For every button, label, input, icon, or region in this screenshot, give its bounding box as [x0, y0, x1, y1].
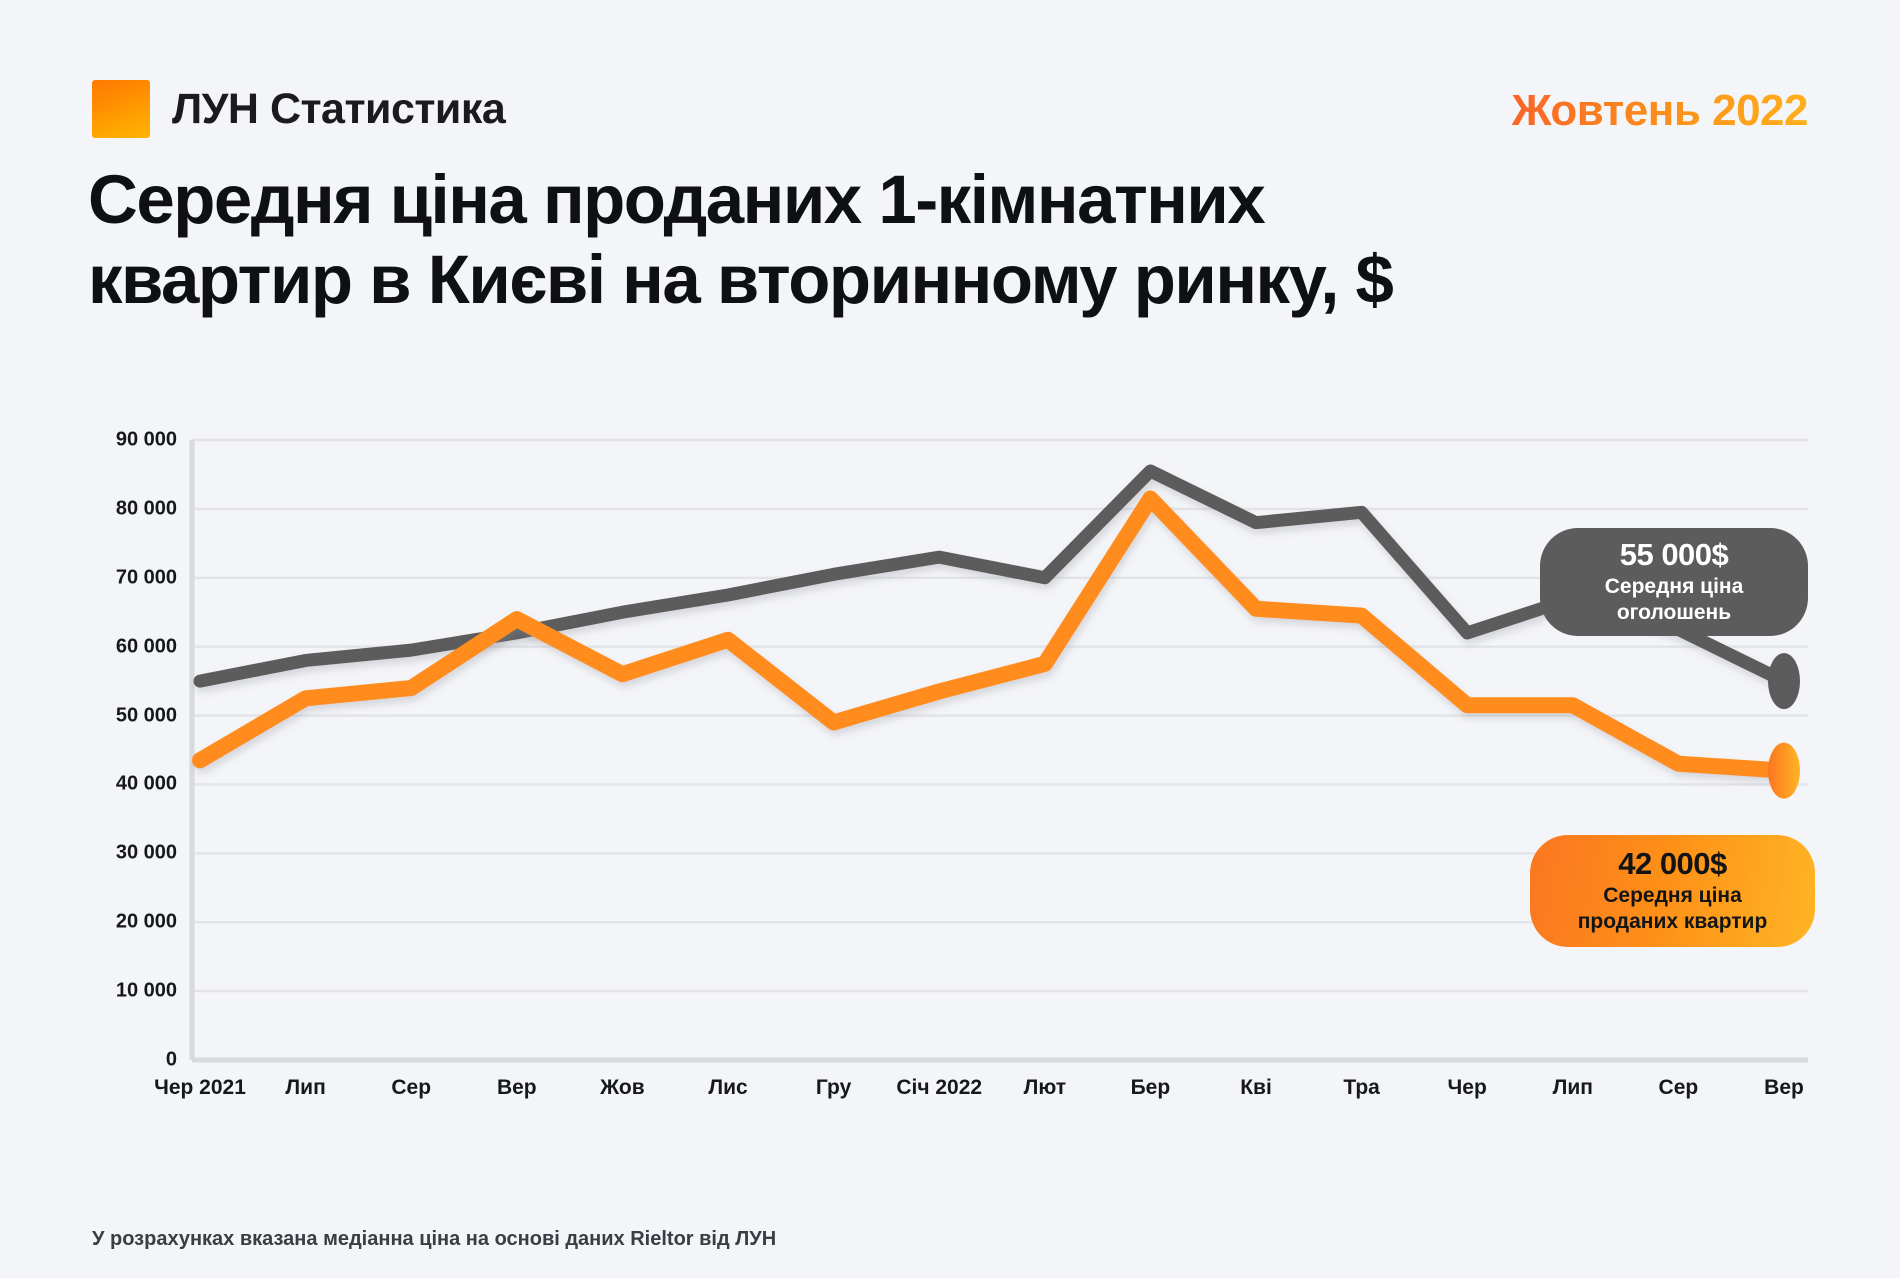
callout-listings-label-1: Середня ціна — [1605, 575, 1744, 600]
x-tick-label: Жов — [600, 1076, 644, 1100]
y-tick-label: 60 000 — [116, 635, 177, 658]
x-tick-label: Сер — [1659, 1076, 1699, 1100]
callout-sold-value: 42 000$ — [1618, 847, 1727, 882]
x-tick-label: Лип — [285, 1076, 325, 1100]
page-title-line1: Середня ціна проданих 1-кімнатних — [88, 161, 1264, 238]
infographic-root: ЛУН Статистика Жовтень 2022 Середня ціна… — [0, 0, 1900, 1278]
page-title-line2: квартир в Києві на вторинному ринку, $ — [88, 240, 1808, 320]
callout-listings-label-2: оголошень — [1617, 601, 1731, 626]
footnote: У розрахунках вказана медіанна ціна на о… — [92, 1228, 776, 1251]
x-tick-label: Чер 2021 — [154, 1076, 246, 1100]
y-tick-label: 0 — [166, 1049, 177, 1072]
y-tick-label: 30 000 — [116, 842, 177, 865]
x-tick-label: Бер — [1131, 1076, 1171, 1100]
brand-header: ЛУН Статистика — [92, 80, 505, 138]
x-tick-label: Чер — [1448, 1076, 1487, 1100]
lun-logo-square-icon — [92, 80, 150, 138]
x-tick-label: Сер — [391, 1076, 431, 1100]
callout-sold-label-1: Середня ціна — [1603, 884, 1742, 909]
x-tick-label: Вер — [497, 1076, 537, 1100]
page-title: Середня ціна проданих 1-кімнатних кварти… — [88, 160, 1808, 320]
y-tick-label: 90 000 — [116, 429, 177, 452]
brand-section: Статистика — [270, 85, 505, 133]
y-tick-label: 70 000 — [116, 566, 177, 589]
series-end-marker-sold — [1768, 743, 1800, 799]
y-tick-label: 40 000 — [116, 773, 177, 796]
y-tick-label: 20 000 — [116, 911, 177, 934]
callout-listings-value: 55 000$ — [1620, 538, 1729, 573]
x-tick-label: Тра — [1343, 1076, 1380, 1100]
y-tick-label: 10 000 — [116, 980, 177, 1003]
series-line-sold — [200, 499, 1784, 771]
x-tick-label: Лис — [708, 1076, 747, 1100]
x-tick-label: Гру — [816, 1076, 851, 1100]
series-layer — [200, 471, 1800, 799]
series-end-marker-listings — [1768, 653, 1800, 709]
callout-sold-label-2: проданих квартир — [1578, 910, 1768, 935]
x-tick-label: Лип — [1553, 1076, 1593, 1100]
y-axis-labels: 010 00020 00030 00040 00050 00060 00070 … — [92, 440, 177, 1060]
report-month: Жовтень 2022 — [1512, 86, 1808, 136]
callout-sold: 42 000$ Середня ціна проданих квартир — [1530, 835, 1815, 947]
x-tick-label: Кві — [1240, 1076, 1272, 1100]
callout-listings: 55 000$ Середня ціна оголошень — [1540, 528, 1808, 636]
y-tick-label: 50 000 — [116, 704, 177, 727]
x-axis-labels: Чер 2021ЛипСерВерЖовЛисГруСіч 2022ЛютБер… — [192, 1076, 1808, 1116]
brand-title: ЛУН Статистика — [172, 85, 505, 134]
x-tick-label: Лют — [1024, 1076, 1066, 1100]
brand-name: ЛУН — [172, 85, 258, 133]
x-tick-label: Січ 2022 — [896, 1076, 982, 1100]
x-tick-label: Вер — [1764, 1076, 1804, 1100]
y-tick-label: 80 000 — [116, 497, 177, 520]
